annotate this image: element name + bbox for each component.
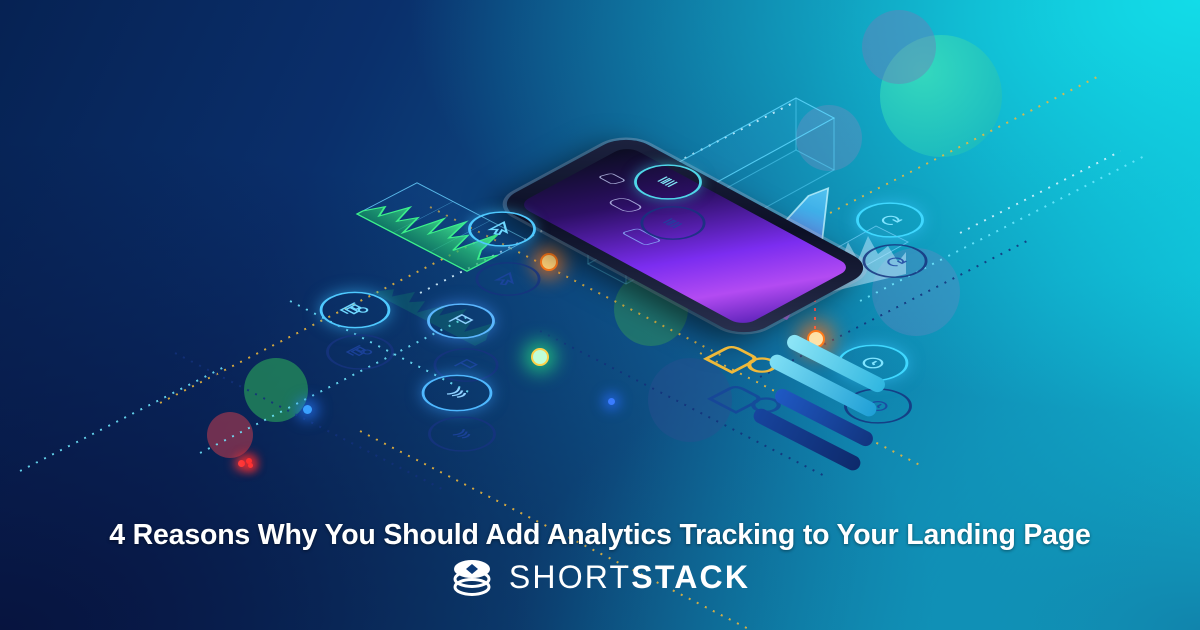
refresh-sync-glyph xyxy=(868,209,912,232)
brand-logo[interactable]: SHORTSTACK xyxy=(0,556,1200,598)
dotted-path-4 xyxy=(175,352,443,490)
pie-chart-glyph xyxy=(331,298,379,323)
stacked-discs-logo-icon xyxy=(450,556,494,598)
cursor-arrow-shadow-glyph xyxy=(487,268,529,290)
contactless-signal-glyph xyxy=(433,381,481,406)
glow-node-red-bottom xyxy=(246,458,252,464)
bokeh-circle-crimson-left xyxy=(207,412,253,458)
pie-chart-shadow-icon xyxy=(312,327,408,377)
glow-node-blue-lower xyxy=(608,398,615,405)
logo-word-short: SHORT xyxy=(509,559,631,595)
contactless-signal-shadow-icon xyxy=(414,409,510,459)
bar-chart-shadow-glyph xyxy=(445,354,487,376)
dotted-path-2 xyxy=(20,366,226,472)
bokeh-circle-teal xyxy=(880,35,1002,157)
pie-chart-shadow-glyph xyxy=(338,341,382,364)
contactless-signal-shadow-glyph xyxy=(440,423,484,446)
logo-word-stack: STACK xyxy=(631,559,750,595)
glow-node-blue-left xyxy=(303,405,312,414)
social-share-banner: 4 Reasons Why You Should Add Analytics T… xyxy=(0,0,1200,630)
page-title: 4 Reasons Why You Should Add Analytics T… xyxy=(0,519,1200,552)
bar-chart-glyph xyxy=(439,310,483,333)
glow-node-green-mid xyxy=(531,348,549,366)
dotted-path-9 xyxy=(830,76,1098,214)
glow-node-red-left xyxy=(238,460,245,467)
barcode-glyph xyxy=(646,171,690,194)
cursor-arrow-glyph xyxy=(480,218,524,241)
glow-node-orange-mid xyxy=(540,253,558,271)
refresh-sync-shadow-glyph xyxy=(874,250,916,272)
bokeh-circle-violet-top xyxy=(862,10,936,84)
stacked-discs-glyph xyxy=(450,556,494,598)
barcode-shadow-glyph xyxy=(652,212,694,234)
dotted-path-14 xyxy=(960,150,1121,234)
logo-wordmark: SHORTSTACK xyxy=(509,561,750,593)
isometric-progress-bars xyxy=(742,352,902,462)
